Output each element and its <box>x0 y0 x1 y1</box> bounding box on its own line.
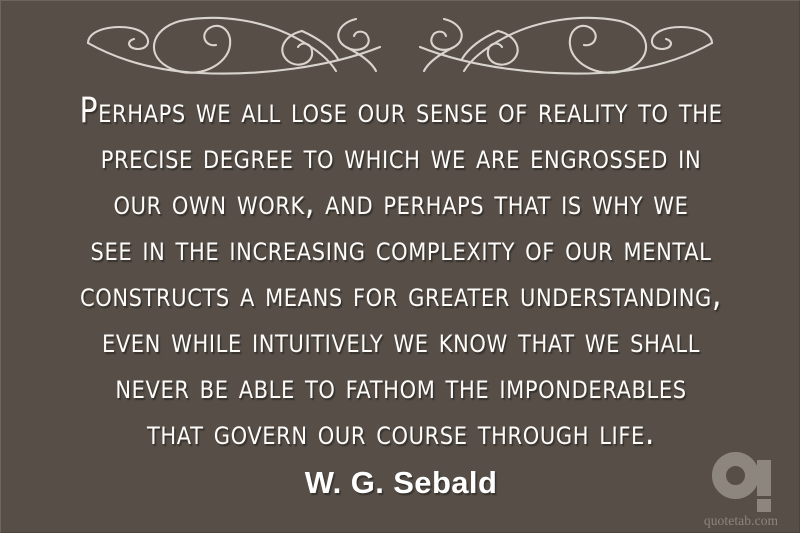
quote-line: never be able to fathom the imponderable… <box>1 363 800 411</box>
quote-line: see in the increasing complexity of our … <box>1 225 800 273</box>
decorative-flourish-ornament <box>80 9 720 81</box>
quote-line: constructs a means for greater understan… <box>1 271 800 319</box>
quote-line: Perhaps we all lose our sense of reality… <box>1 87 800 135</box>
quote-image: Perhaps we all lose our sense of reality… <box>0 0 800 533</box>
quote-line: precise degree to which we are engrossed… <box>1 133 800 181</box>
quote-line: even while intuitively we know that we s… <box>1 317 800 365</box>
quote-line: our own work, and perhaps that is why we <box>1 179 800 227</box>
quote-line: that govern our course through life. <box>1 409 800 457</box>
quote-text: Perhaps we all lose our sense of reality… <box>1 87 800 455</box>
logo-square-shape <box>757 499 771 512</box>
quote-author: W. G. Sebald <box>1 465 800 501</box>
watermark[interactable]: quotetab.com <box>689 452 793 528</box>
logo-ring-shape <box>712 452 759 499</box>
logo-stem-shape <box>757 460 771 496</box>
watermark-site-label: quotetab.com <box>689 513 793 528</box>
quotetab-q-logo-icon <box>710 452 772 512</box>
